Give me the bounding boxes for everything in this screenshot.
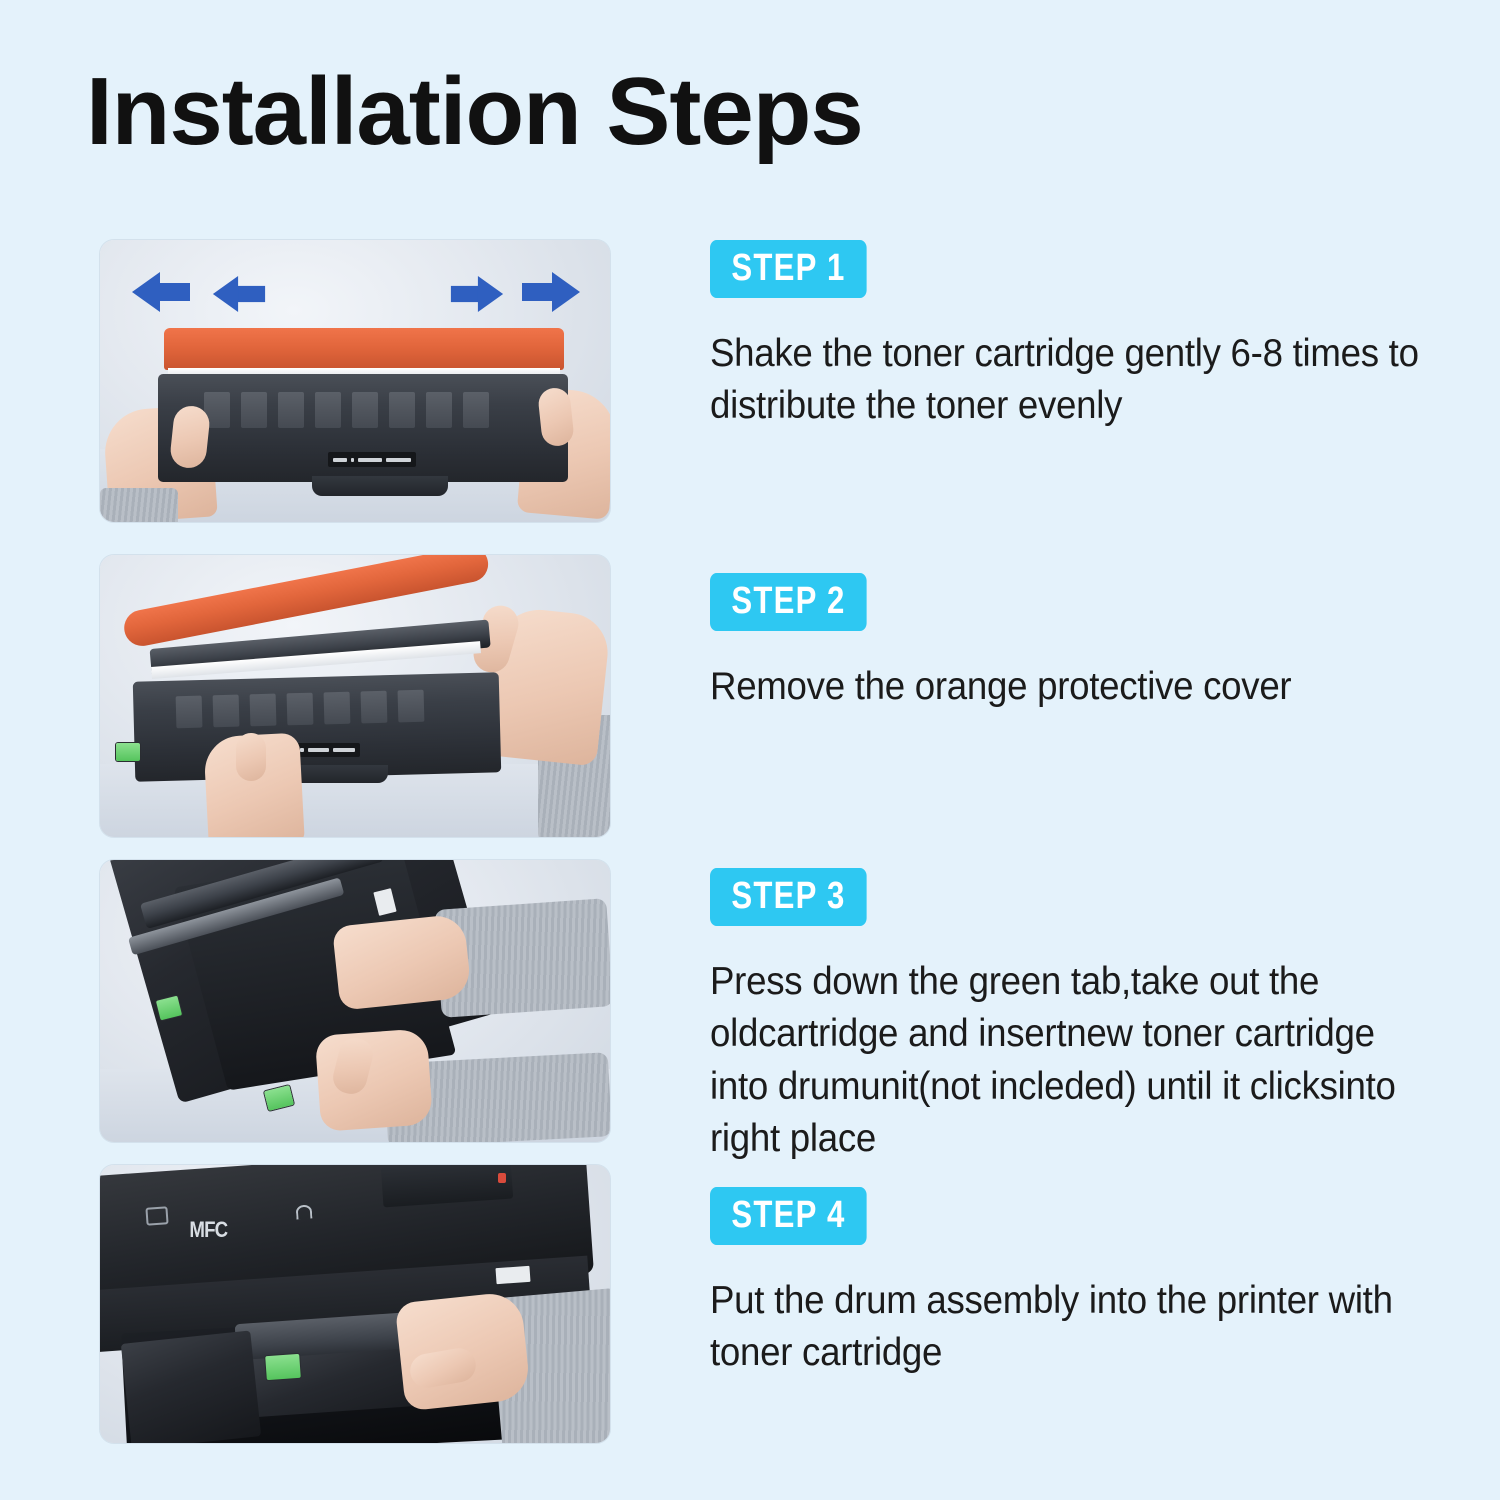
step-3-photo — [100, 860, 610, 1142]
green-tab — [265, 1354, 301, 1380]
hand-upper — [332, 913, 472, 1010]
sleeve-left — [100, 488, 178, 522]
arrow-right-icon — [522, 272, 580, 312]
step-4-copy: STEP 4 Put the drum assembly into the pr… — [710, 1187, 1430, 1380]
cartridge-label — [328, 452, 416, 467]
step-4-photo: MFC — [100, 1165, 610, 1443]
step-2-copy: STEP 2 Remove the orange protective cove… — [710, 573, 1430, 713]
step-3-copy: STEP 3 Press down the green tab,take out… — [710, 868, 1430, 1165]
step-2-badge: STEP 2 — [710, 573, 867, 631]
step-3-description: Press down the green tab,take out the ol… — [710, 956, 1427, 1165]
step-1-copy: STEP 1 Shake the toner cartridge gently … — [710, 240, 1430, 433]
cartridge-handle — [312, 476, 448, 496]
step-1-photo — [100, 240, 610, 522]
arrow-left-icon — [132, 272, 190, 312]
step-2-photo — [100, 555, 610, 837]
green-chip — [116, 743, 140, 761]
cartridge-vents — [176, 690, 425, 728]
printer-interior-left — [121, 1330, 261, 1443]
arrow-right-icon — [451, 276, 503, 312]
step-4-description: Put the drum assembly into the printer w… — [710, 1275, 1427, 1380]
arrow-left-icon — [213, 276, 265, 312]
orange-protective-cover — [164, 328, 564, 370]
cartridge-vents — [204, 392, 489, 428]
installation-steps-infographic: { "page": { "title": "Installation Steps… — [0, 0, 1500, 1500]
printer-logo: MFC — [189, 1217, 227, 1243]
wifi-icon — [296, 1204, 313, 1219]
printer-power-led — [498, 1173, 506, 1183]
finger-left — [236, 733, 266, 781]
step-2-description: Remove the orange protective cover — [710, 661, 1427, 713]
page-title: Installation Steps — [86, 62, 863, 163]
step-1-badge: STEP 1 — [710, 240, 867, 298]
nfc-badge-icon — [145, 1206, 168, 1225]
printer-sticker — [495, 1266, 530, 1284]
step-1-description: Shake the toner cartridge gently 6-8 tim… — [710, 328, 1427, 433]
step-3-badge: STEP 3 — [710, 868, 867, 926]
step-4-badge: STEP 4 — [710, 1187, 867, 1245]
